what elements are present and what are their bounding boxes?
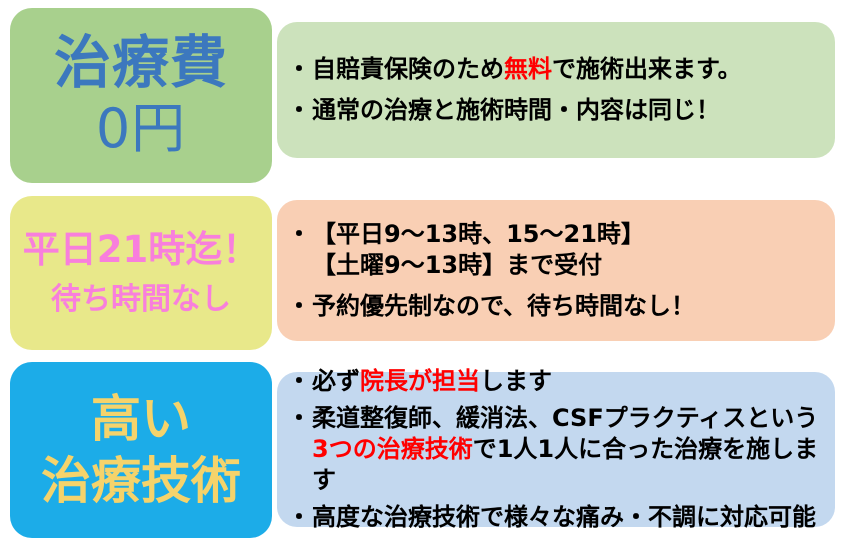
hours-bullet-1-text: 【平日9～13時、15～21時】 【土曜9～13時】まで受付 [312,219,821,281]
infographic-canvas: 治療費 0円 ・ 自賠責保険のため無料で施術出来ます。 ・ 通常の治療と施術時間… [0,0,845,546]
cost-label-box: 治療費 0円 [10,8,272,183]
cost-description-panel: ・ 自賠責保険のため無料で施術出来ます。 ・ 通常の治療と施術時間・内容は同じ！ [277,22,835,158]
skill-bullet-1-part2: します [480,367,552,395]
bullet-marker-icon: ・ [287,502,311,533]
bullet-marker-icon: ・ [287,366,311,397]
cost-bullet-2-text: 通常の治療と施術時間・内容は同じ！ [312,95,821,126]
cost-bullet-1-part1: 自賠責保険のため [312,55,504,83]
cost-bullet-1-text: 自賠責保険のため無料で施術出来ます。 [312,54,821,85]
skill-bullet-1-highlight: 院長が担当 [360,367,480,395]
skill-bullet-2-highlight: 3つの治療技術 [312,435,473,463]
bullet-marker-icon: ・ [287,95,311,126]
bullet-marker-icon: ・ [287,403,311,434]
cost-label-line1: 治療費 [54,33,228,95]
list-item: ・ 【平日9～13時、15～21時】 【土曜9～13時】まで受付 [287,219,821,281]
hours-label-line2: 待ち時間なし [51,284,231,316]
cost-bullet-1-part2: で施術出来ます。 [552,55,742,83]
skill-bullet-1-text: 必ず院長が担当します [312,366,821,397]
hours-label-line1: 平日21時迄！ [23,230,260,270]
skill-bullet-2-text: 柔道整復師、緩消法、CSFプラクティスという 3つの治療技術で1人1人に合った治… [312,403,821,497]
skill-label-box: 高い 治療技術 [10,362,272,538]
bullet-marker-icon: ・ [287,291,311,322]
skill-description-panel: ・ 必ず院長が担当します ・ 柔道整復師、緩消法、CSFプラクティスという 3つ… [277,372,835,527]
cost-label-line2: 0円 [96,100,186,158]
skill-bullet-2-line1: 柔道整復師、緩消法、CSFプラクティスという [312,403,821,434]
hours-bullet-2-text: 予約優先制なので、待ち時間なし！ [312,291,821,322]
hours-label-box: 平日21時迄！ 待ち時間なし [10,196,272,350]
list-item: ・ 自賠責保険のため無料で施術出来ます。 [287,54,821,85]
hours-bullet-1-line2: 【土曜9～13時】まで受付 [312,250,821,281]
list-item: ・ 高度な治療技術で様々な痛み・不調に対応可能 [287,502,821,533]
skill-label-line2: 治療技術 [41,454,241,508]
skill-bullet-3-text: 高度な治療技術で様々な痛み・不調に対応可能 [312,502,821,533]
skill-bullet-list: ・ 必ず院長が担当します ・ 柔道整復師、緩消法、CSFプラクティスという 3つ… [277,366,835,534]
list-item: ・ 必ず院長が担当します [287,366,821,397]
skill-bullet-2-line2: 3つの治療技術で1人1人に合った治療を施します [312,434,821,496]
skill-bullet-1-part1: 必ず [312,367,360,395]
list-item: ・ 予約優先制なので、待ち時間なし！ [287,291,821,322]
hours-bullet-list: ・ 【平日9～13時、15～21時】 【土曜9～13時】まで受付 ・ 予約優先制… [277,219,835,322]
cost-bullet-list: ・ 自賠責保険のため無料で施術出来ます。 ・ 通常の治療と施術時間・内容は同じ！ [277,54,835,126]
hours-description-panel: ・ 【平日9～13時、15～21時】 【土曜9～13時】まで受付 ・ 予約優先制… [277,200,835,341]
skill-label-line1: 高い [91,392,191,446]
list-item: ・ 通常の治療と施術時間・内容は同じ！ [287,95,821,126]
list-item: ・ 柔道整復師、緩消法、CSFプラクティスという 3つの治療技術で1人1人に合っ… [287,403,821,497]
bullet-marker-icon: ・ [287,219,311,250]
bullet-marker-icon: ・ [287,54,311,85]
cost-bullet-1-highlight: 無料 [504,55,552,83]
hours-bullet-1-line1: 【平日9～13時、15～21時】 [312,219,821,250]
